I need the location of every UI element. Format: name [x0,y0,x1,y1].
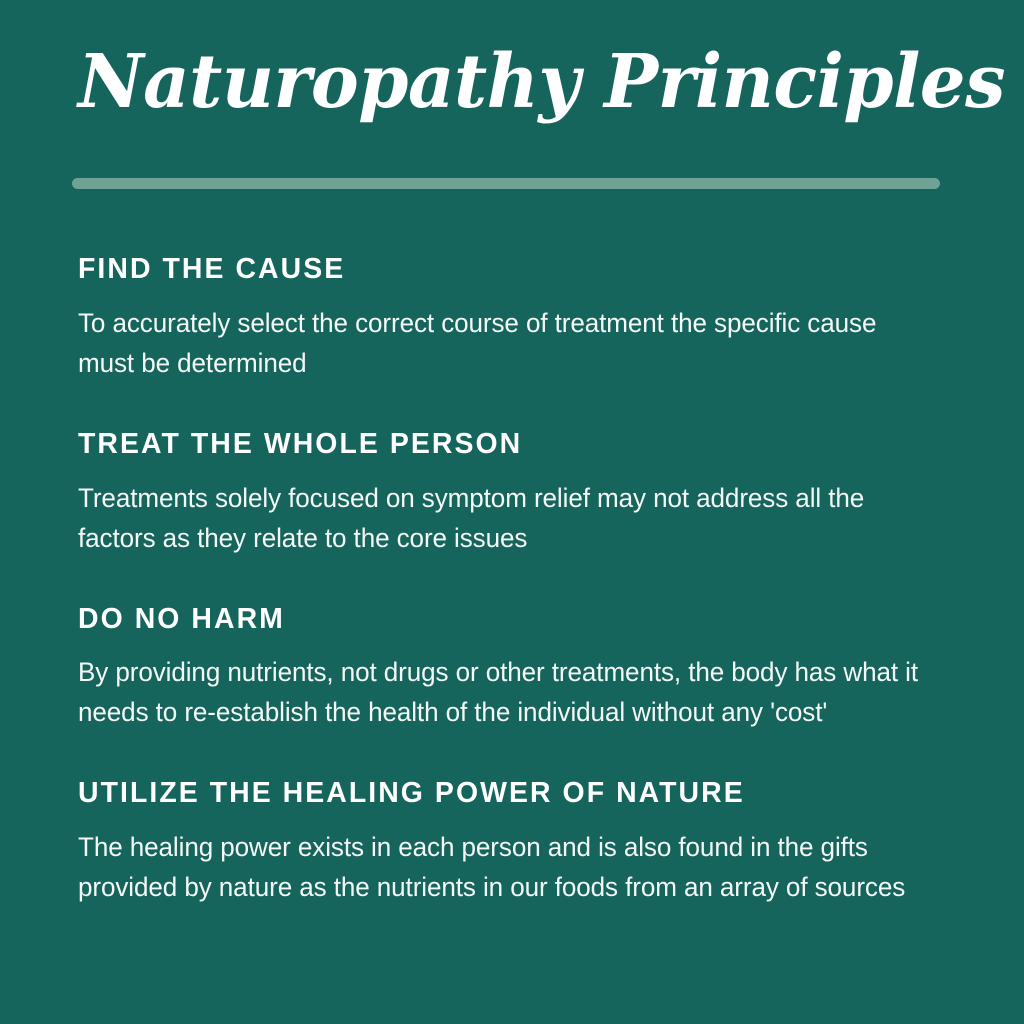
principle-body: The healing power exists in each person … [78,827,937,907]
principle-item-do-no-harm: DO NO HARM By providing nutrients, not d… [78,602,968,733]
principle-body: By providing nutrients, not drugs or oth… [78,652,937,732]
principle-item-treat-the-whole-person: TREAT THE WHOLE PERSON Treatments solely… [78,427,968,558]
principle-body: Treatments solely focused on symptom rel… [78,478,937,558]
principle-body: To accurately select the correct course … [78,303,937,383]
principle-heading: DO NO HARM [78,602,950,637]
principle-item-utilize-the-healing-power-of-nature: UTILIZE THE HEALING POWER OF NATURE The … [78,776,968,907]
principle-heading: TREAT THE WHOLE PERSON [78,427,950,462]
principles-list: FIND THE CAUSE To accurately select the … [78,252,968,907]
principle-heading: FIND THE CAUSE [78,252,950,287]
page-title: Naturopathy Principles [78,44,932,122]
title-divider [72,178,940,189]
title-block: Naturopathy Principles [78,44,958,122]
principle-item-find-the-cause: FIND THE CAUSE To accurately select the … [78,252,968,383]
poster-canvas: Naturopathy Principles FIND THE CAUSE To… [0,0,1024,1024]
principle-heading: UTILIZE THE HEALING POWER OF NATURE [78,776,950,811]
